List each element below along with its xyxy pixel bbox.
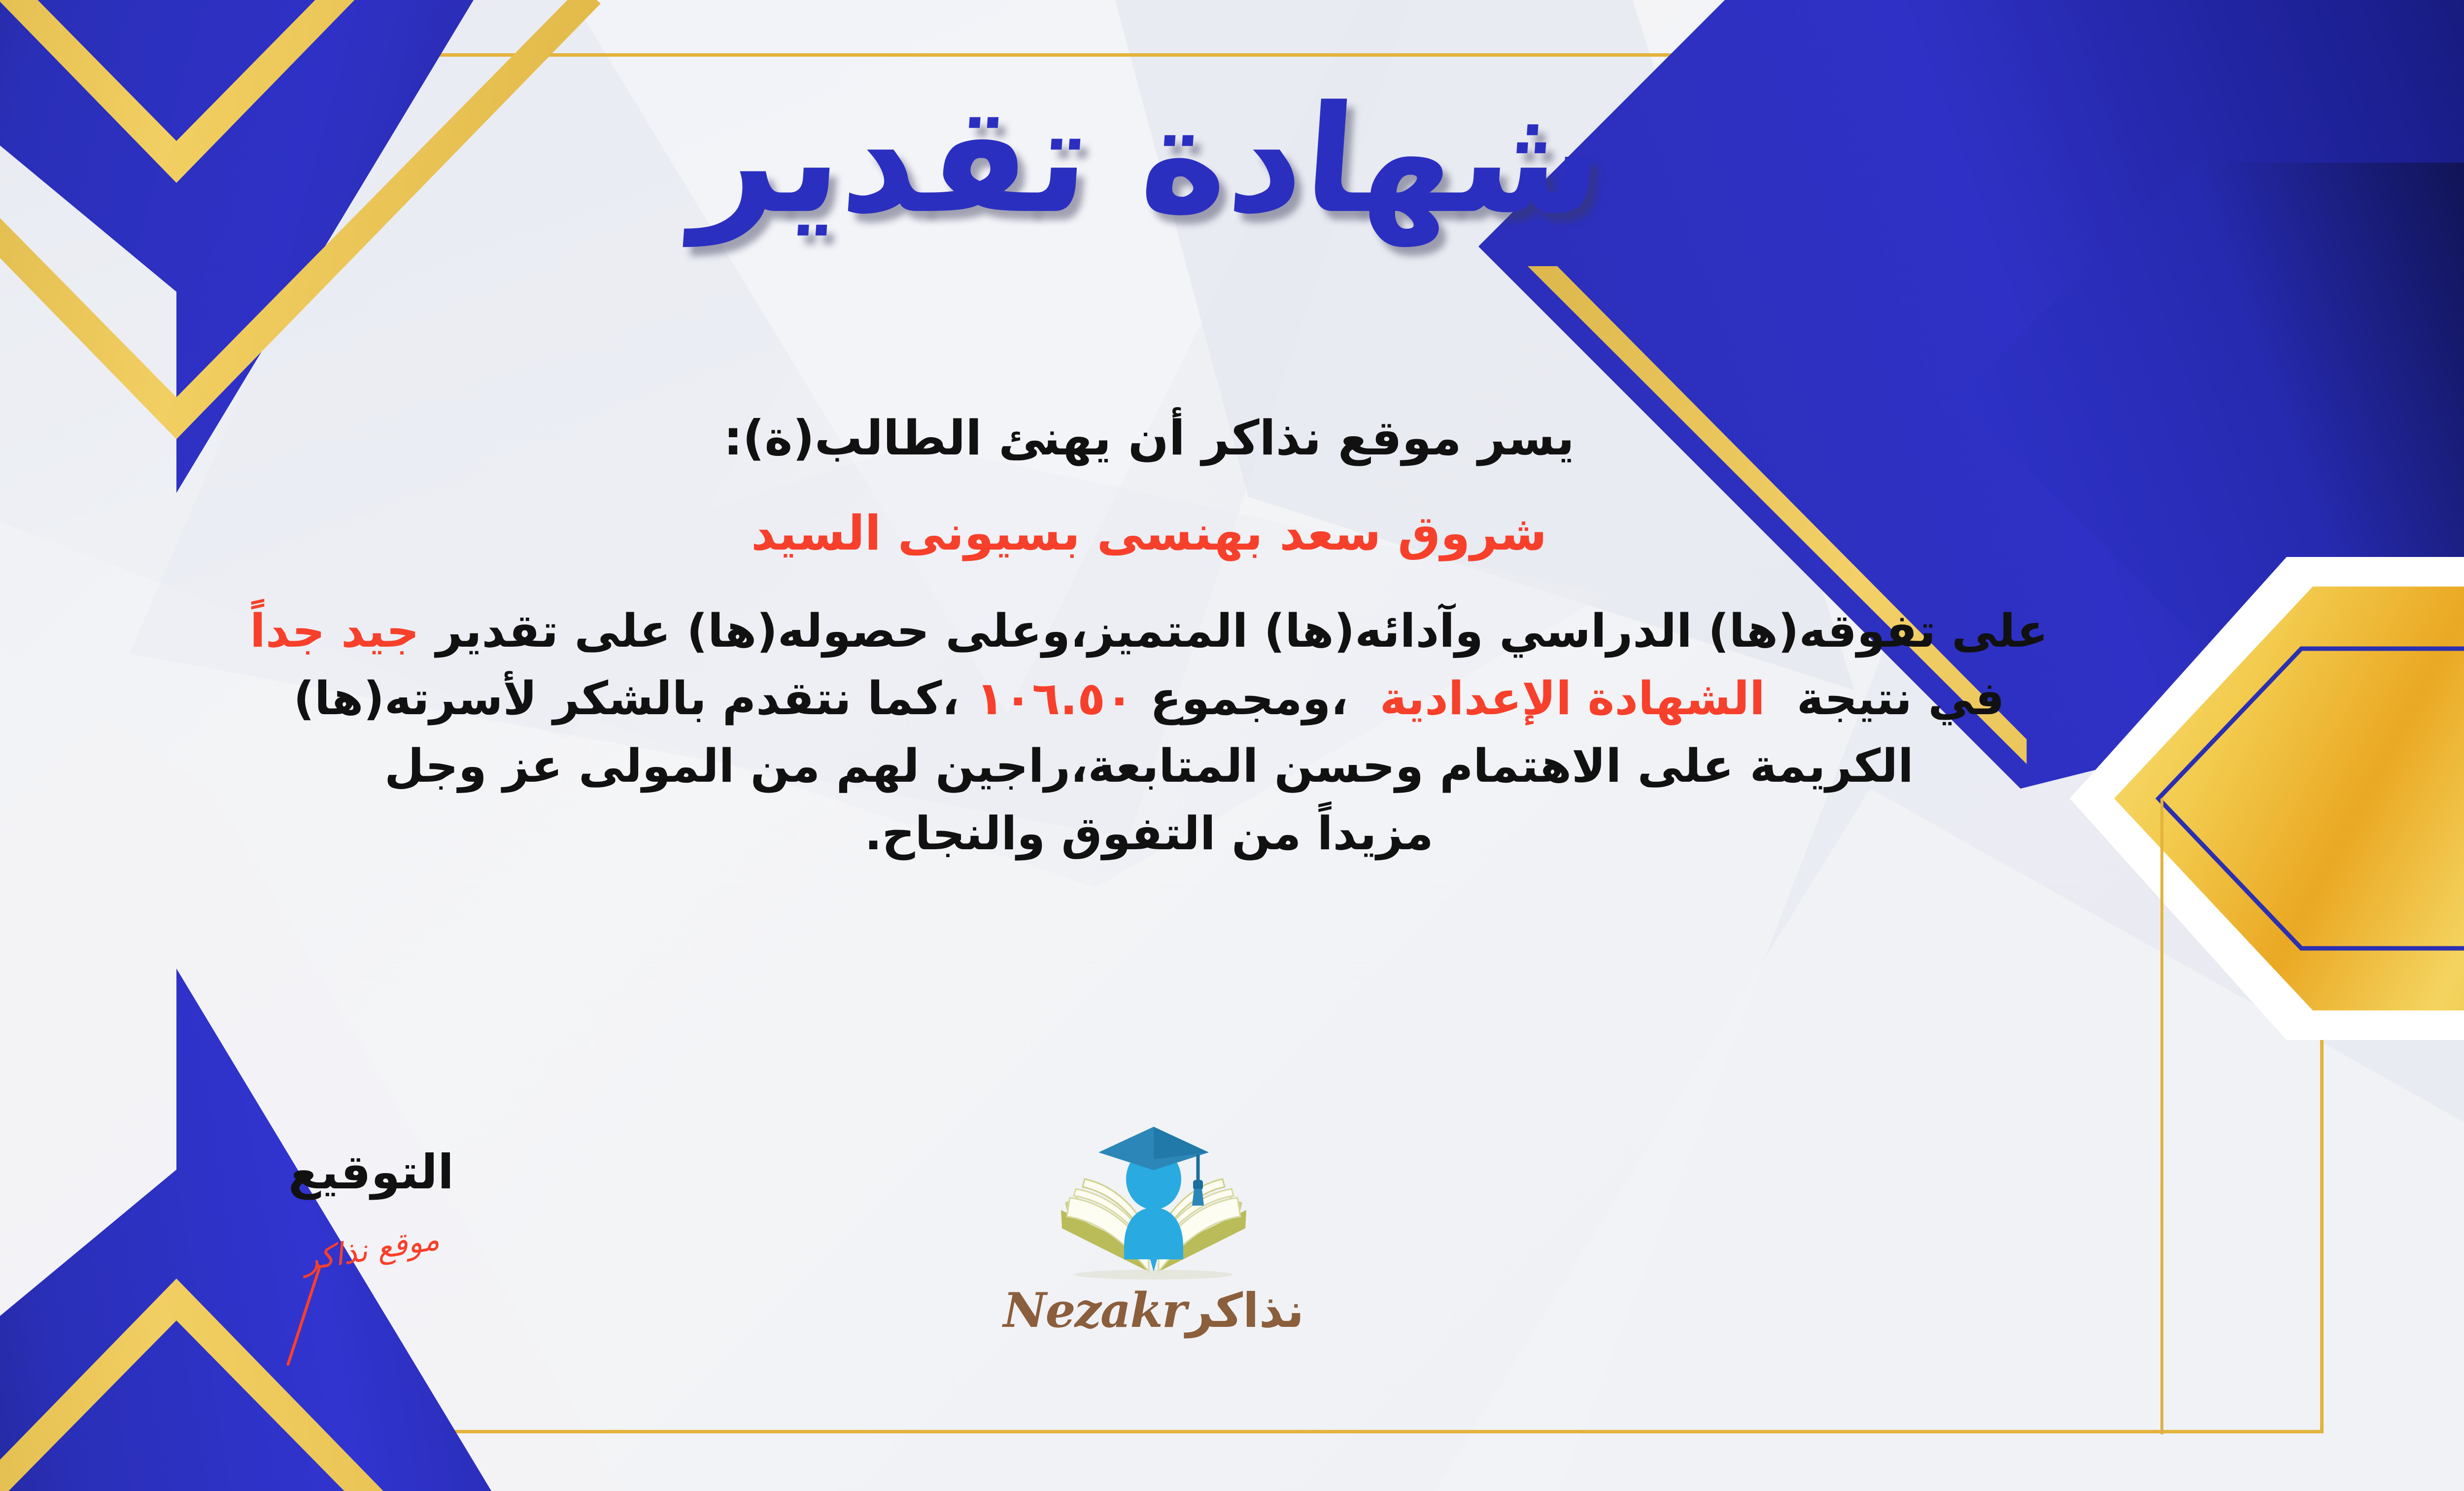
graduation-book-icon bbox=[1050, 1124, 1257, 1286]
student-name: شروق سعد بهنسى بسيونى السيد bbox=[0, 509, 2341, 557]
closing-line: مزيداً من التفوق والنجاح. bbox=[0, 811, 2341, 857]
signature-block: التوقيع موقع نذاكر bbox=[218, 1148, 524, 1309]
signature-label: التوقيع bbox=[218, 1148, 524, 1196]
grade-value: جيد جداً bbox=[250, 604, 419, 658]
total-label: ،ومجموع bbox=[1150, 672, 1348, 725]
signature-pen-stroke bbox=[286, 1267, 321, 1366]
certificate-title: شهادة تقدير bbox=[0, 86, 2464, 234]
logo-wordmark: نذاكرNezakr bbox=[986, 1283, 1321, 1338]
logo-arabic: نذاكر bbox=[1186, 1283, 1304, 1338]
achievement-text: على تفوقه(ها) الدراسي وآدائه(ها) المتميز… bbox=[436, 604, 2048, 658]
result-prefix: في نتيجة bbox=[1797, 672, 2005, 725]
family-thanks-line: الكريمة على الاهتمام وحسن المتابعة،راجين… bbox=[0, 743, 2341, 789]
certificate-page: شهادة تقدير يسر موقع نذاكر أن يهنئ الطال… bbox=[0, 0, 2464, 1491]
achievement-line: على تفوقه(ها) الدراسي وآدائه(ها) المتميز… bbox=[0, 608, 2341, 654]
signature-script: موقع نذاكر bbox=[301, 1221, 442, 1278]
certificate-content: شهادة تقدير يسر موقع نذاكر أن يهنئ الطال… bbox=[0, 0, 2464, 1491]
exam-name: الشهادة الإعدادية bbox=[1380, 672, 1765, 725]
nezakr-logo: نذاكرNezakr bbox=[986, 1124, 1321, 1338]
thanks-text: ،كما نتقدم بالشكر لأسرته(ها) bbox=[294, 672, 959, 725]
certificate-body: يسر موقع نذاكر أن يهنئ الطالب(ة): شروق س… bbox=[0, 414, 2341, 857]
total-score: ١٠٦.٥٠ bbox=[976, 672, 1133, 725]
logo-latin: Nezakr bbox=[1003, 1283, 1186, 1338]
result-line: في نتيجةالشهادة الإعدادية،ومجموع١٠٦.٥٠،ك… bbox=[0, 676, 2341, 722]
greeting-line: يسر موقع نذاكر أن يهنئ الطالب(ة): bbox=[0, 414, 2341, 462]
